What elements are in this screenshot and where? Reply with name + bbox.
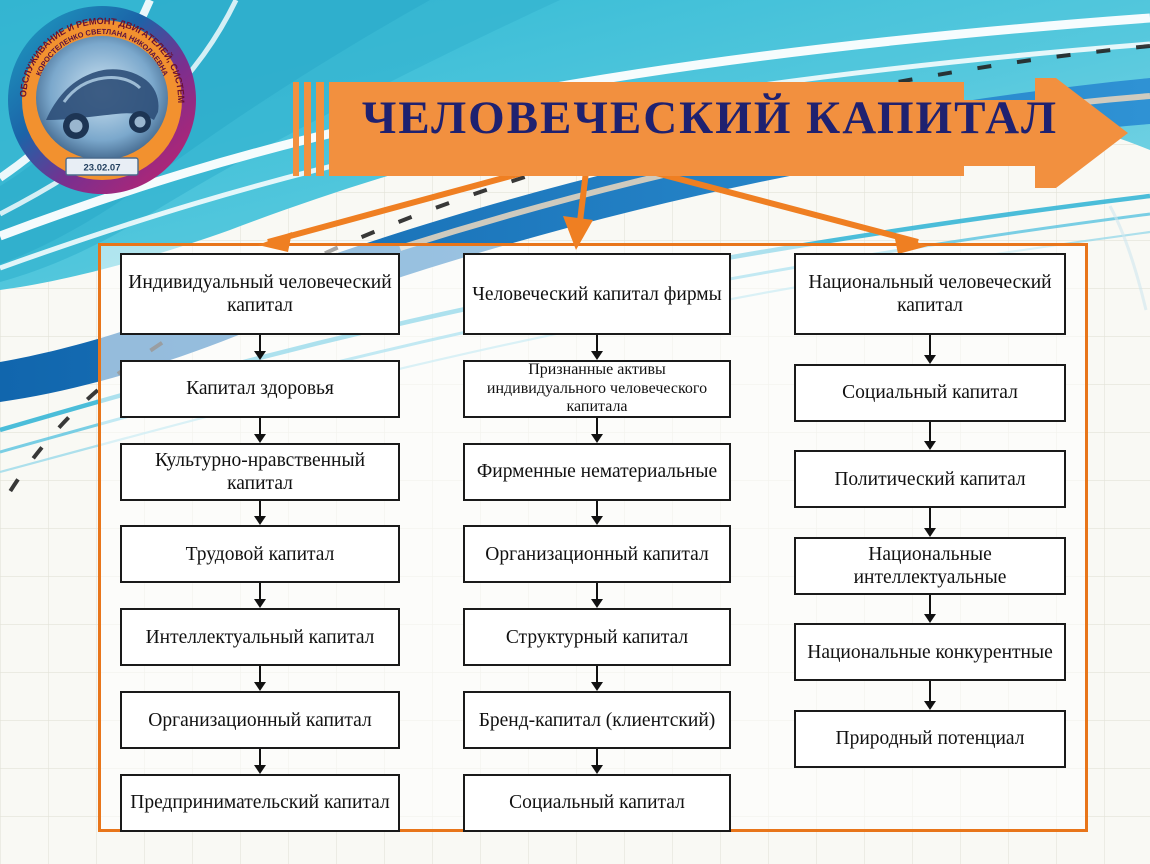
down-arrow-icon — [794, 681, 1066, 710]
down-arrow-icon — [120, 583, 400, 608]
course-logo-badge: ТЕХНИЧЕСКОЕ ОБСЛУЖИВАНИЕ И РЕМОНТ ДВИГАТ… — [4, 2, 200, 198]
node-box[interactable]: Социальный капитал — [794, 364, 1066, 422]
node-box[interactable]: Предпринимательский капитал — [120, 774, 400, 832]
node-box[interactable]: Социальный капитал — [463, 774, 731, 832]
node-box[interactable]: Политический капитал — [794, 450, 1066, 508]
down-arrow-icon — [463, 749, 731, 774]
down-arrow-icon — [794, 422, 1066, 451]
slide-canvas: ТЕХНИЧЕСКОЕ ОБСЛУЖИВАНИЕ И РЕМОНТ ДВИГАТ… — [0, 0, 1150, 864]
node-box[interactable]: Национальные интеллектуальные — [794, 537, 1066, 595]
down-arrow-icon — [463, 418, 731, 443]
down-arrow-icon — [794, 595, 1066, 624]
down-arrow-icon — [120, 501, 400, 526]
node-box[interactable]: Природный потенциал — [794, 710, 1066, 768]
node-box[interactable]: Культурно-нравственный капитал — [120, 443, 400, 501]
node-box[interactable]: Организационный капитал — [120, 691, 400, 749]
node-box[interactable]: Организационный капитал — [463, 525, 731, 583]
node-box[interactable]: Человеческий капитал фирмы — [463, 253, 731, 335]
down-arrow-icon — [120, 335, 400, 360]
down-arrow-icon — [794, 335, 1066, 364]
node-box[interactable]: Фирменные нематериальные — [463, 443, 731, 501]
node-box[interactable]: Капитал здоровья — [120, 360, 400, 418]
column-national: Национальный человеческий капитал Социал… — [794, 253, 1066, 832]
node-box[interactable]: Индивидуальный человеческий капитал — [120, 253, 400, 335]
node-box[interactable]: Бренд-капитал (клиентский) — [463, 691, 731, 749]
down-arrow-icon — [463, 666, 731, 691]
down-arrow-icon — [463, 501, 731, 526]
node-box[interactable]: Национальный человеческий капитал — [794, 253, 1066, 335]
logo-ribbon-code: 23.02.07 — [84, 163, 121, 174]
diagram-columns: Индивидуальный человеческий капитал Капи… — [98, 243, 1088, 832]
down-arrow-icon — [120, 666, 400, 691]
node-box[interactable]: Структурный капитал — [463, 608, 731, 666]
node-box[interactable]: Признанные активы индивидуального челове… — [463, 360, 731, 418]
column-firm: Человеческий капитал фирмы Признанные ак… — [463, 253, 731, 832]
down-arrow-icon — [463, 583, 731, 608]
node-box[interactable]: Трудовой капитал — [120, 525, 400, 583]
down-arrow-icon — [120, 418, 400, 443]
down-arrow-icon — [794, 508, 1066, 537]
page-title: ЧЕЛОВЕЧЕСКИЙ КАПИТАЛ — [340, 82, 1080, 154]
down-arrow-icon — [120, 749, 400, 774]
node-box[interactable]: Национальные конкурентные — [794, 623, 1066, 681]
column-individual: Индивидуальный человеческий капитал Капи… — [120, 253, 400, 832]
node-box[interactable]: Интеллектуальный капитал — [120, 608, 400, 666]
down-arrow-icon — [463, 335, 731, 360]
